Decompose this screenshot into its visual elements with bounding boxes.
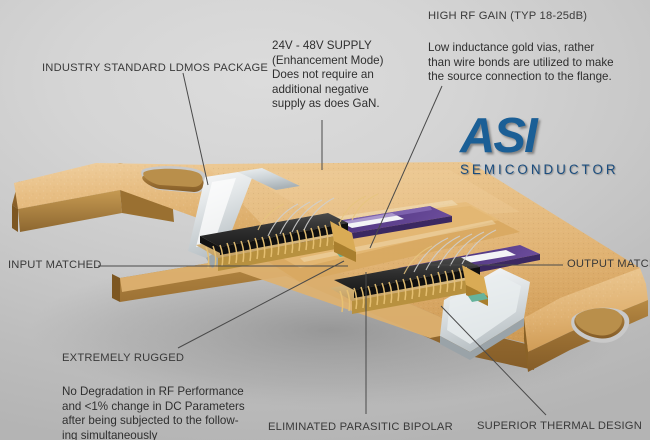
callout-superior-thermal-design: SUPERIOR THERMAL DESIGN bbox=[477, 420, 642, 432]
rugged-line-2: and <1% change in DC Parameters bbox=[62, 400, 245, 415]
rugged-line-1: No Degradation in RF Performance bbox=[62, 385, 245, 400]
supply-line-2: (Enhancement Mode) bbox=[272, 54, 384, 69]
callout-high-rf-gain: HIGH RF GAIN (TYP 18-25dB) bbox=[428, 10, 587, 22]
callout-extremely-rugged: EXTREMELY RUGGED bbox=[62, 352, 184, 364]
gold-vias-line-2: than wire bonds are utilized to make bbox=[428, 56, 614, 71]
callout-input-matched: INPUT MATCHED bbox=[8, 259, 102, 271]
supply-line-4: additional negative bbox=[272, 83, 384, 98]
callout-industry-standard-ldmos-package: INDUSTRY STANDARD LDMOS PACKAGE bbox=[42, 62, 268, 74]
logo-wordmark: ASI bbox=[460, 112, 619, 161]
illustration-canvas: INDUSTRY STANDARD LDMOS PACKAGE INPUT MA… bbox=[0, 0, 650, 440]
supply-line-3: Does not require an bbox=[272, 68, 384, 83]
gold-vias-line-3: the source connection to the flange. bbox=[428, 70, 614, 85]
logo-tagline: SEMICONDUCTOR bbox=[460, 162, 619, 177]
supply-line-1: 24V - 48V SUPPLY bbox=[272, 39, 384, 54]
supply-line-5: supply as does GaN. bbox=[272, 97, 384, 112]
paragraph-supply: 24V - 48V SUPPLY (Enhancement Mode) Does… bbox=[272, 39, 384, 112]
rugged-line-4: ing simultaneously bbox=[62, 429, 245, 440]
paragraph-gold-vias: Low inductance gold vias, rather than wi… bbox=[428, 41, 614, 85]
callout-output-matched: OUTPUT MATCHED bbox=[567, 258, 650, 270]
gold-vias-line-1: Low inductance gold vias, rather bbox=[428, 41, 614, 56]
paragraph-rugged: No Degradation in RF Performance and <1%… bbox=[62, 385, 245, 440]
asi-logo: ASI SEMICONDUCTOR bbox=[460, 112, 619, 177]
callout-eliminated-parasitic-bipolar: ELIMINATED PARASITIC BIPOLAR bbox=[268, 421, 453, 433]
rugged-line-3: after being subjected to the follow- bbox=[62, 414, 245, 429]
